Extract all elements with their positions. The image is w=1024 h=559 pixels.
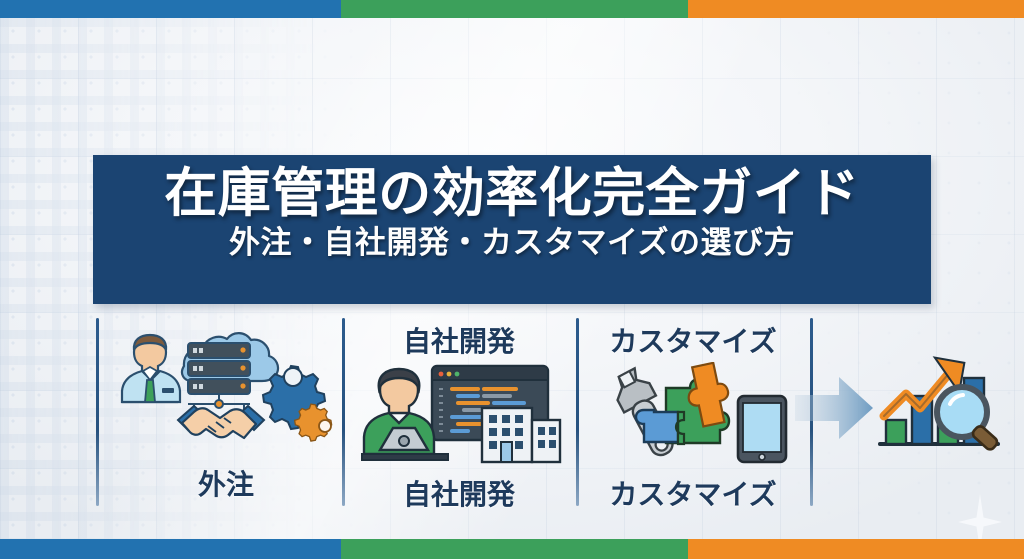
arrow-right-icon (795, 375, 873, 441)
divider-2 (342, 318, 345, 506)
top-bar-green-segment (341, 0, 688, 18)
in-house-illustration (356, 362, 562, 471)
outsourcing-illustration (112, 328, 340, 461)
divider-1 (96, 318, 99, 506)
customization-illustration (590, 362, 796, 471)
page-title: 在庫管理の効率化完全ガイド (164, 166, 860, 222)
customization-icon-group (590, 362, 796, 466)
tablet-icon (738, 396, 786, 462)
divider-3 (576, 318, 579, 506)
page-subtitle: 外注・自社開発・カスタマイズの選び方 (229, 226, 795, 260)
top-bar-orange-segment (688, 0, 1024, 18)
column-in-house-label-top: 自社開発 (403, 320, 515, 360)
gear-small-icon (295, 404, 332, 441)
growth-chart-icon-group (870, 352, 1010, 460)
bottom-bar-green-segment (341, 539, 688, 559)
business-person-icon (122, 335, 180, 402)
result-illustration (870, 352, 1010, 465)
column-customization-label-top: カスタマイズ (609, 320, 776, 360)
column-customization-label-bottom: カスタマイズ (609, 473, 776, 513)
outsourcing-icon-group (112, 328, 340, 456)
top-bar-blue-segment (0, 0, 341, 18)
in-house-icon-group (356, 362, 562, 466)
banner-canvas: 在庫管理の効率化完全ガイド 外注・自社開発・カスタマイズの選び方 (0, 0, 1024, 559)
title-banner: 在庫管理の効率化完全ガイド 外注・自社開発・カスタマイズの選び方 (93, 155, 931, 304)
column-in-house-development: 自社開発 (352, 320, 566, 513)
bottom-bar-blue-segment (0, 539, 341, 559)
column-result (870, 352, 1010, 465)
bottom-bar-orange-segment (688, 539, 1024, 559)
column-outsourcing: 外注 (112, 328, 340, 503)
column-customization: カスタマイズ (586, 320, 800, 513)
handshake-icon (178, 406, 264, 438)
bottom-accent-bar (0, 539, 1024, 559)
column-in-house-label-bottom: 自社開発 (403, 473, 515, 513)
top-accent-bar (0, 0, 1024, 18)
column-outsourcing-label-bottom: 外注 (198, 463, 254, 503)
